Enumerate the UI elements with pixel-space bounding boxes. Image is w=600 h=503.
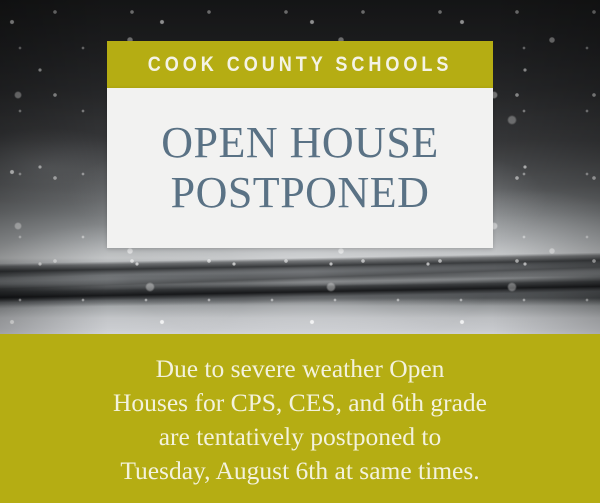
page-title-line-1: OPEN HOUSE [161, 118, 439, 167]
footer-message-line-1: Due to severe weather Open [40, 352, 560, 386]
header-ribbon: COOK COUNTY SCHOOLS [107, 41, 493, 88]
page-title: OPEN HOUSE POSTPONED [161, 118, 439, 218]
organization-name: COOK COUNTY SCHOOLS [148, 53, 453, 77]
footer-message-line-4: Tuesday, August 6th at same times. [40, 454, 560, 488]
title-card: OPEN HOUSE POSTPONED [107, 88, 493, 248]
footer-message-line-2: Houses for CPS, CES, and 6th grade [40, 386, 560, 420]
footer-message: Due to severe weather Open Houses for CP… [40, 352, 560, 488]
footer-message-block: Due to severe weather Open Houses for CP… [0, 334, 600, 503]
footer-message-line-3: are tentatively postponed to [40, 420, 560, 454]
announcement-poster: COOK COUNTY SCHOOLS OPEN HOUSE POSTPONED… [0, 0, 600, 503]
page-title-line-2: POSTPONED [161, 168, 439, 218]
